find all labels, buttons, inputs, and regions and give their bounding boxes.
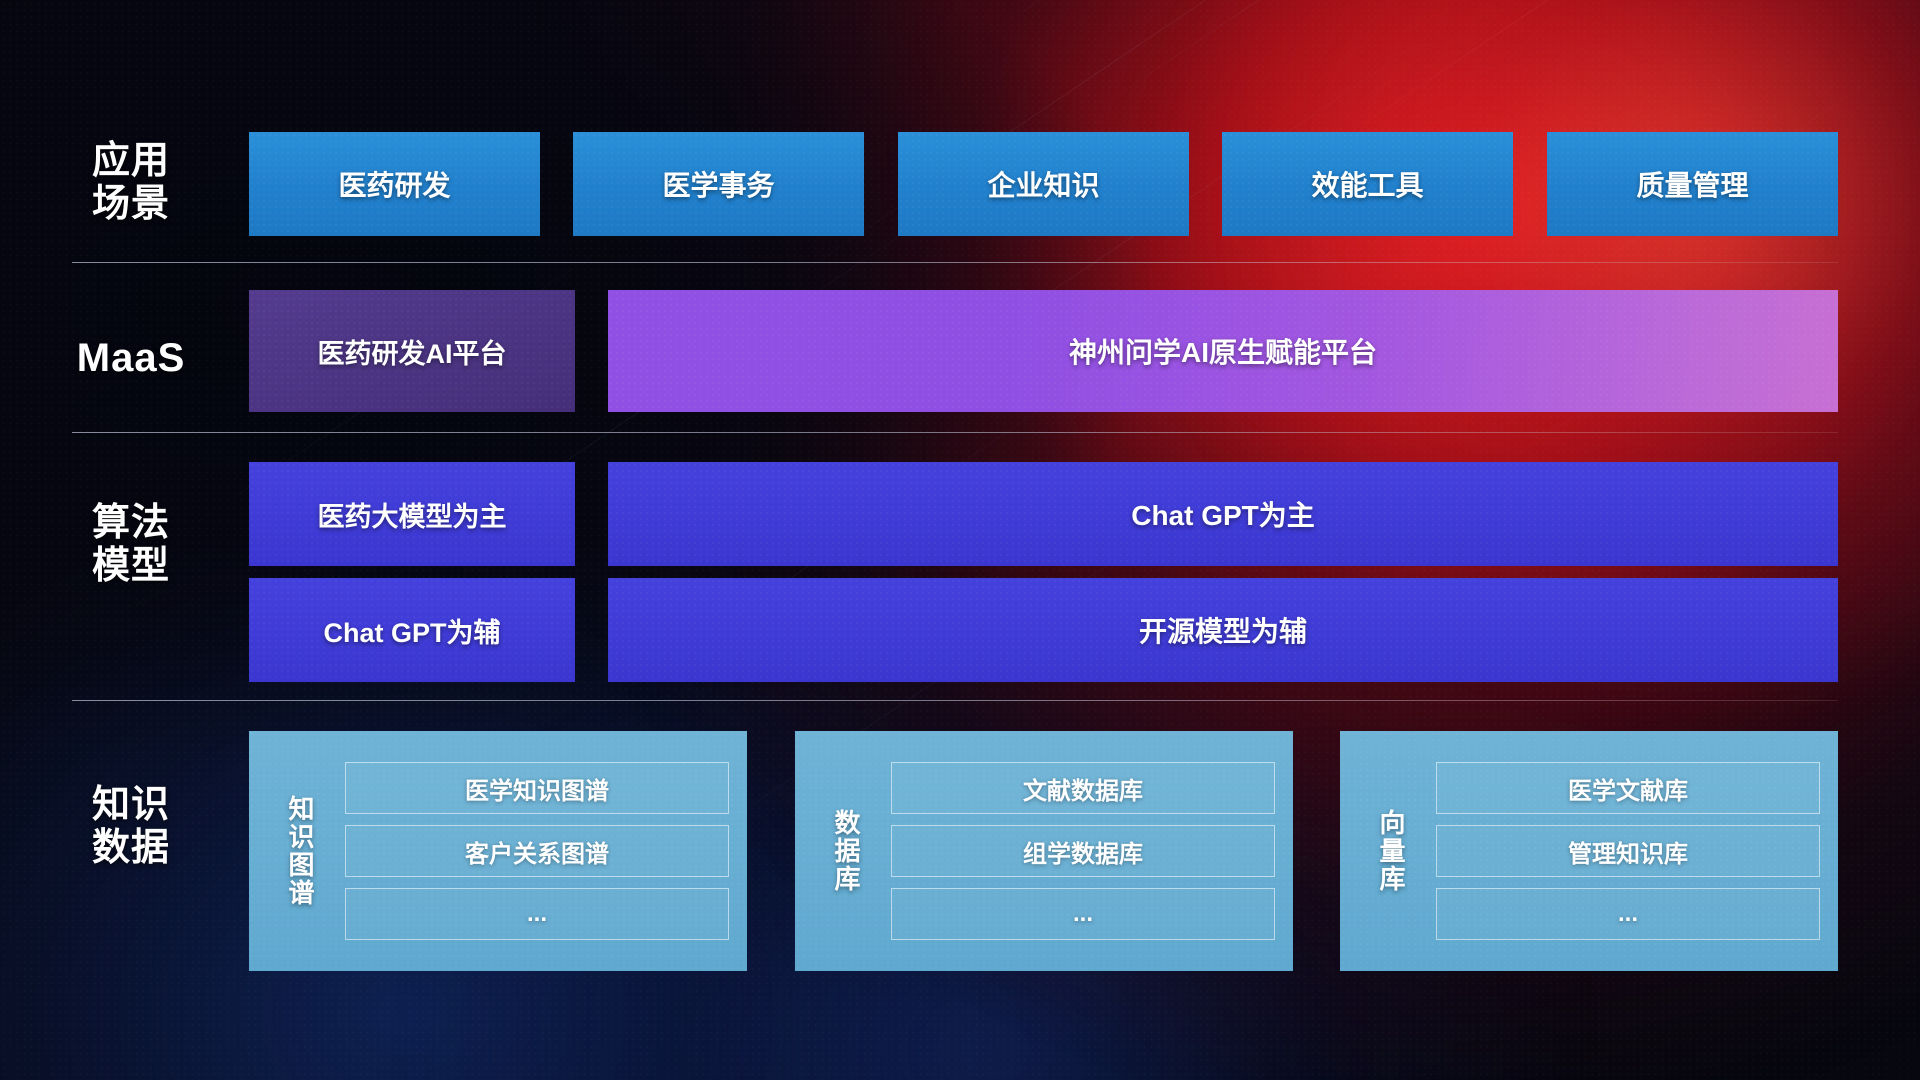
knowledge-item-label: 组学数据库 <box>1023 834 1143 869</box>
knowledge-item-label: 医学文献库 <box>1568 771 1688 806</box>
divider-algorithm-knowledge <box>72 700 1838 701</box>
row-label-maas: MaaS <box>72 318 190 398</box>
knowledge-group-vertical-label: 向量库 <box>1356 743 1426 959</box>
application-box-2[interactable]: 医学事务 <box>573 132 864 236</box>
application-box-label: 效能工具 <box>1311 164 1423 204</box>
knowledge-group-3[interactable]: 向量库医学文献库管理知识库... <box>1340 731 1838 971</box>
divider-maas-algorithm <box>72 432 1838 433</box>
application-box-label: 医学事务 <box>662 164 774 204</box>
knowledge-item-label: ... <box>527 900 547 928</box>
algorithm-row2-right-box[interactable]: 开源模型为辅 <box>608 578 1838 682</box>
maas-left-box-label: 医药研发AI平台 <box>318 332 507 371</box>
knowledge-item[interactable]: ... <box>1436 888 1820 940</box>
application-box-5[interactable]: 质量管理 <box>1547 132 1838 236</box>
algorithm-row1-left-box[interactable]: 医药大模型为主 <box>249 462 575 566</box>
application-box-label: 医药研发 <box>338 164 450 204</box>
knowledge-item[interactable]: ... <box>345 888 729 940</box>
algorithm-row2-right-label: 开源模型为辅 <box>1139 610 1307 650</box>
maas-right-box[interactable]: 神州问学AI原生赋能平台 <box>608 290 1838 412</box>
algorithm-row2-left-box[interactable]: Chat GPT为辅 <box>249 578 575 682</box>
knowledge-item-label: 文献数据库 <box>1023 771 1143 806</box>
knowledge-item[interactable]: 医学文献库 <box>1436 762 1820 814</box>
knowledge-item-list: 医学知识图谱客户关系图谱... <box>345 762 729 940</box>
knowledge-item[interactable]: ... <box>891 888 1275 940</box>
maas-left-box[interactable]: 医药研发AI平台 <box>249 290 575 412</box>
application-box-1[interactable]: 医药研发 <box>249 132 540 236</box>
knowledge-item-label: ... <box>1618 900 1638 928</box>
algorithm-row2-left-label: Chat GPT为辅 <box>323 611 500 650</box>
knowledge-item[interactable]: 管理知识库 <box>1436 825 1820 877</box>
knowledge-item-list: 医学文献库管理知识库... <box>1436 762 1820 940</box>
knowledge-group-1[interactable]: 知识图谱医学知识图谱客户关系图谱... <box>249 731 747 971</box>
algorithm-row1-right-label: Chat GPT为主 <box>1131 494 1315 534</box>
knowledge-item[interactable]: 文献数据库 <box>891 762 1275 814</box>
knowledge-item-label: ... <box>1073 900 1093 928</box>
knowledge-item-label: 客户关系图谱 <box>465 834 609 869</box>
knowledge-item-label: 医学知识图谱 <box>465 771 609 806</box>
maas-right-box-label: 神州问学AI原生赋能平台 <box>1069 331 1377 371</box>
application-box-label: 企业知识 <box>987 164 1099 204</box>
knowledge-item-list: 文献数据库组学数据库... <box>891 762 1275 940</box>
application-box-3[interactable]: 企业知识 <box>898 132 1189 236</box>
application-box-4[interactable]: 效能工具 <box>1222 132 1513 236</box>
knowledge-group-2[interactable]: 数据库文献数据库组学数据库... <box>795 731 1293 971</box>
divider-application-maas <box>72 262 1838 263</box>
knowledge-item-label: 管理知识库 <box>1568 834 1688 869</box>
knowledge-group-vertical-label: 知识图谱 <box>265 743 335 959</box>
knowledge-item[interactable]: 组学数据库 <box>891 825 1275 877</box>
application-box-label: 质量管理 <box>1636 164 1748 204</box>
architecture-diagram: 应用 场景 医药研发医学事务企业知识效能工具质量管理 MaaS 医药研发AI平台… <box>0 0 1920 1080</box>
row-label-knowledge: 知识 数据 <box>72 772 190 882</box>
row-label-algorithm: 算法 模型 <box>72 490 190 600</box>
algorithm-row1-right-box[interactable]: Chat GPT为主 <box>608 462 1838 566</box>
row-label-application: 应用 场景 <box>72 128 190 238</box>
knowledge-item[interactable]: 客户关系图谱 <box>345 825 729 877</box>
algorithm-row1-left-label: 医药大模型为主 <box>318 495 507 534</box>
knowledge-item[interactable]: 医学知识图谱 <box>345 762 729 814</box>
knowledge-group-vertical-label: 数据库 <box>811 743 881 959</box>
